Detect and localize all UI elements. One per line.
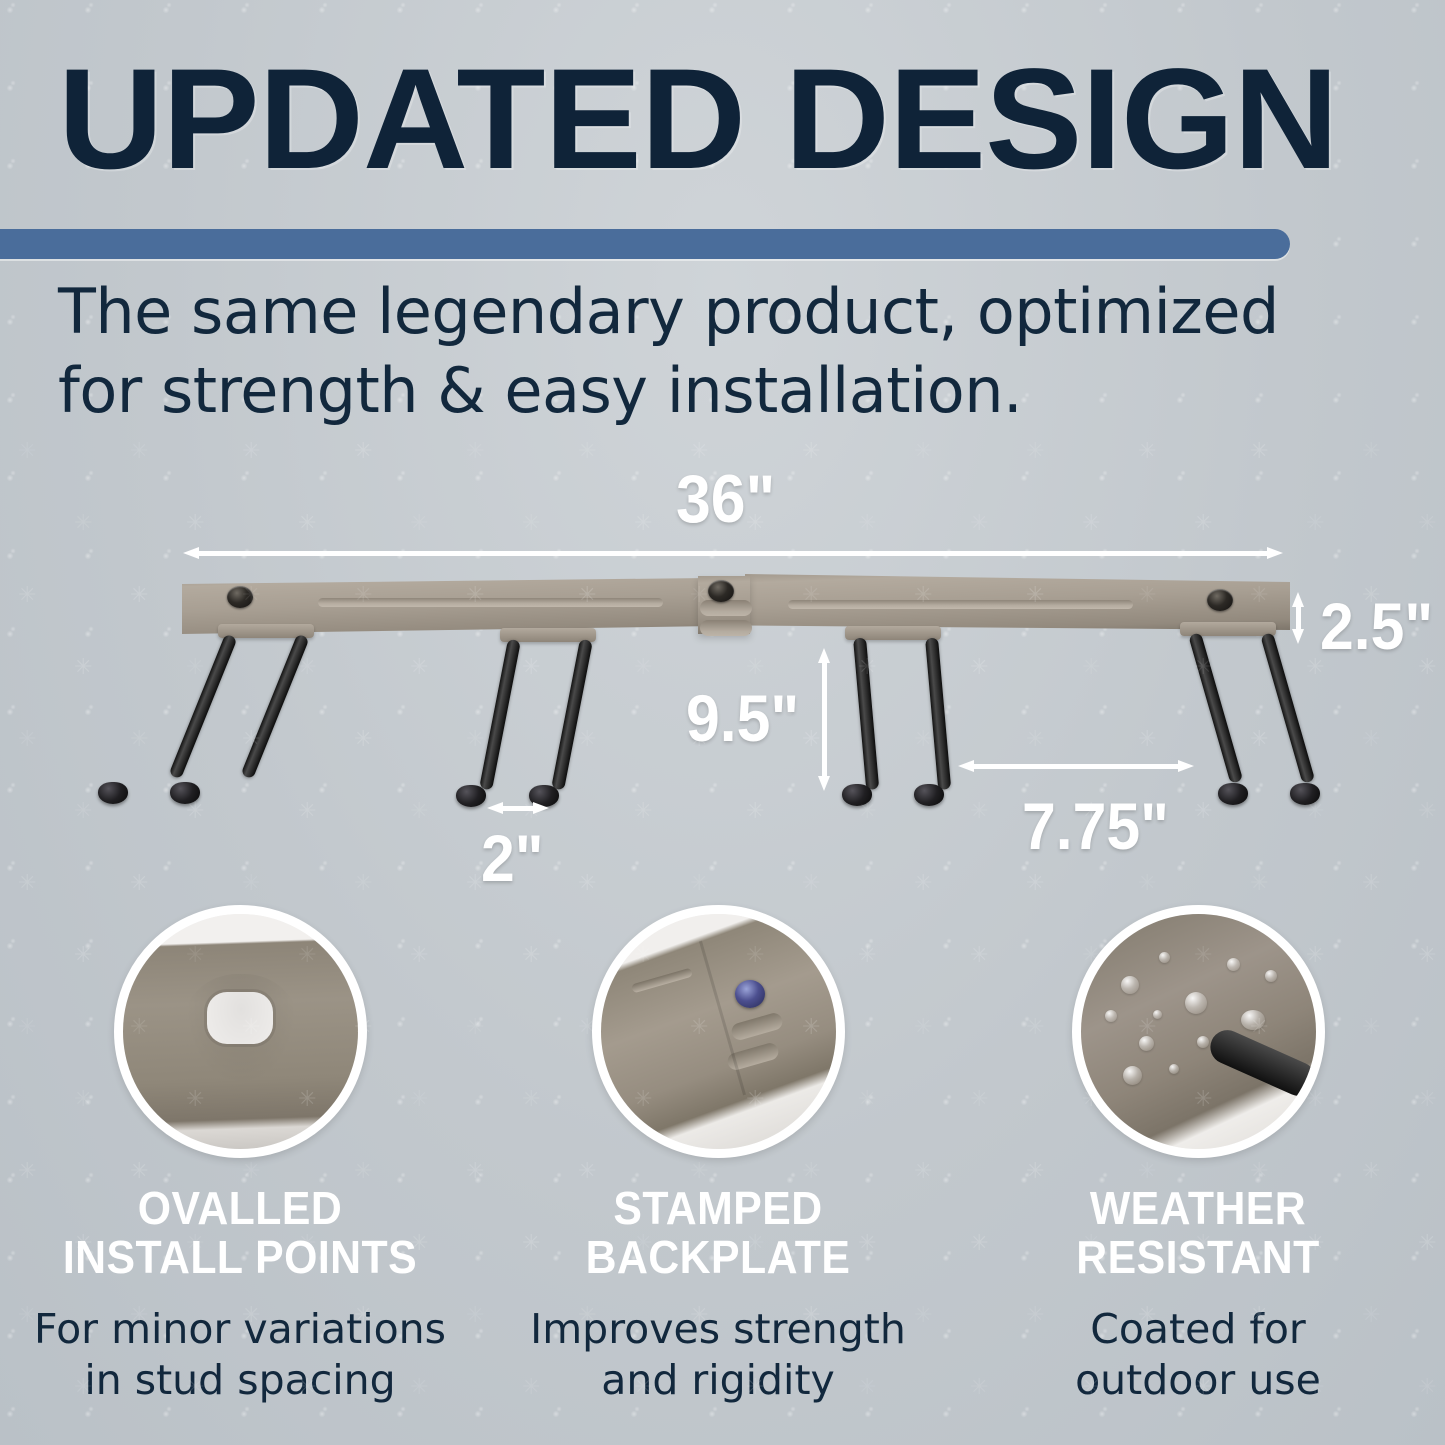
feature-title-stamped-backplate: STAMPED BACKPLATE — [504, 1184, 932, 1282]
feature-title-weather-resistant: WEATHER RESISTANT — [984, 1184, 1412, 1282]
hook-bar-2b — [551, 639, 593, 791]
water-droplet — [1159, 952, 1170, 963]
product-illustration: 36" 2.5" 9.5" 2" 7.75" — [0, 440, 1445, 910]
dimension-label-hook-gap: 2" — [481, 820, 544, 896]
feature-desc-ovalled-install-points: For minor variations in stud spacing — [10, 1304, 470, 1407]
water-droplet — [1121, 976, 1139, 994]
feature-title-line-2: RESISTANT — [984, 1233, 1412, 1282]
water-droplet — [1227, 958, 1240, 971]
backplate-seam-line — [699, 941, 746, 1096]
hook-tip-3b — [914, 784, 944, 806]
dimension-arrow-overall-width — [183, 547, 1283, 559]
dimension-label-hook-depth: 9.5" — [686, 680, 799, 756]
hook-tip-4b — [1290, 783, 1320, 805]
dimension-label-overall-width: 36" — [676, 460, 775, 538]
coated-hook-end — [1204, 1025, 1320, 1102]
feature-stamped-backplate: STAMPED BACKPLATE Improves strength and … — [488, 905, 948, 1407]
feature-weather-resistant: WEATHER RESISTANT Coated for outdoor use — [968, 905, 1428, 1407]
feature-image-ovalled-install-points — [114, 905, 367, 1158]
feature-desc-stamped-backplate: Improves strength and rigidity — [488, 1304, 948, 1407]
feature-desc-line-1: Coated for — [968, 1304, 1428, 1356]
water-droplet — [1241, 1010, 1265, 1030]
hook-tip-1a — [98, 782, 128, 804]
feature-desc-line-2: in stud spacing — [10, 1355, 470, 1407]
water-droplet — [1185, 992, 1207, 1014]
hook-tip-3a — [842, 784, 872, 806]
hook-bar-3a — [853, 637, 879, 790]
subtitle-line-1: The same legendary product, optimized — [58, 272, 1358, 351]
feature-title-ovalled-install-points: OVALLED INSTALL POINTS — [26, 1184, 454, 1282]
hook-bar-4a — [1188, 632, 1243, 784]
ovalled-slot-photo — [123, 914, 358, 1149]
feature-desc-line-1: Improves strength — [488, 1304, 948, 1356]
feature-title-line-2: INSTALL POINTS — [26, 1233, 454, 1282]
water-droplet — [1139, 1036, 1154, 1051]
feature-title-line-1: OVALLED — [26, 1184, 454, 1233]
hook-tip-4a — [1218, 783, 1248, 805]
water-droplet — [1105, 1010, 1117, 1022]
feature-title-line-1: WEATHER — [984, 1184, 1412, 1233]
dimension-label-plate-height: 2.5" — [1320, 588, 1433, 664]
backplate-stamp-oval-1 — [729, 1011, 784, 1042]
backplate-screw-detail — [735, 980, 765, 1008]
dimension-label-bracket-spacing: 7.75" — [1022, 788, 1169, 864]
dimension-arrow-hook-depth — [818, 648, 830, 791]
backplate-groove-detail — [630, 968, 692, 994]
ovalled-slot-recess — [181, 974, 301, 1092]
water-droplet — [1153, 1010, 1162, 1019]
mounting-screw-center — [708, 580, 734, 602]
center-stamp-oval-lower — [700, 620, 752, 636]
dimension-arrow-hook-gap — [487, 802, 549, 814]
hook-bar-1a — [169, 634, 238, 780]
hook-tip-1b — [170, 782, 200, 804]
water-droplet — [1197, 1036, 1209, 1048]
weather-resistant-photo — [1081, 914, 1316, 1149]
title-divider-bar — [0, 229, 1290, 259]
feature-title-line-1: STAMPED — [504, 1184, 932, 1233]
water-droplet — [1123, 1066, 1142, 1085]
hook-bar-3b — [925, 637, 951, 790]
mounting-screw-right — [1207, 589, 1233, 611]
backplate-groove-right — [788, 600, 1133, 609]
subtitle: The same legendary product, optimized fo… — [58, 272, 1358, 431]
page-title: UPDATED DESIGN — [58, 48, 1338, 191]
feature-desc-weather-resistant: Coated for outdoor use — [968, 1304, 1428, 1407]
mounting-screw-left — [227, 586, 253, 608]
subtitle-line-2: for strength & easy installation. — [58, 351, 1358, 430]
hook-bar-4b — [1260, 632, 1315, 784]
feature-image-stamped-backplate — [592, 905, 845, 1158]
feature-ovalled-install-points: OVALLED INSTALL POINTS For minor variati… — [10, 905, 470, 1407]
feature-title-line-2: BACKPLATE — [504, 1233, 932, 1282]
feature-desc-line-2: and rigidity — [488, 1355, 948, 1407]
hook-bar-1b — [241, 634, 310, 780]
stamped-backplate-photo — [601, 914, 836, 1149]
feature-desc-line-1: For minor variations — [10, 1304, 470, 1356]
dimension-arrow-plate-height — [1292, 592, 1304, 644]
dimension-arrow-bracket-spacing — [958, 760, 1194, 772]
backplate-groove-left — [318, 598, 663, 607]
feature-desc-line-2: outdoor use — [968, 1355, 1428, 1407]
water-droplet — [1265, 970, 1277, 982]
feature-image-weather-resistant — [1072, 905, 1325, 1158]
water-droplet — [1169, 1064, 1179, 1074]
infographic-canvas: UPDATED DESIGN The same legendary produc… — [0, 0, 1445, 1445]
center-stamp-oval-upper — [700, 600, 752, 616]
hook-tip-2a — [456, 785, 486, 807]
hook-bar-2a — [479, 639, 521, 791]
